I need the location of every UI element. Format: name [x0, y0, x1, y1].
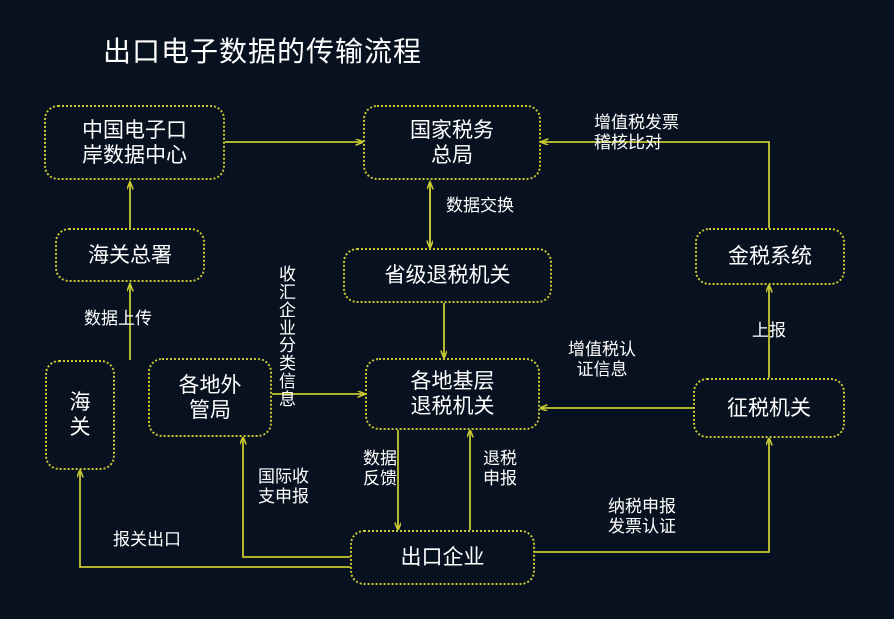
node-general-administration-of-customs[interactable]: 海关总署	[55, 228, 205, 282]
node-export-enterprise[interactable]: 出口企业	[350, 530, 535, 585]
edge-label-tax-declaration-invoice-certification: 纳税申报 发票认证	[608, 497, 676, 538]
node-tax-collection-authority[interactable]: 征税机关	[693, 378, 845, 438]
edge-label-report-up: 上报	[752, 321, 786, 341]
node-local-forex-bureau[interactable]: 各地外 管局	[148, 358, 272, 437]
connector-exporter-to-customs	[80, 470, 350, 567]
connector-goldentax-to-sat	[541, 142, 769, 228]
edge-label-data-feedback: 数据 反馈	[363, 449, 397, 490]
edge-label-customs-export-declaration: 报关出口	[113, 530, 181, 550]
edge-label-data-exchange: 数据交换	[446, 196, 514, 216]
flowchart-canvas: 出口电子数据的传输流程	[0, 0, 894, 619]
node-customs[interactable]: 海 关	[45, 360, 115, 470]
edge-label-vat-certification-info: 增值税认 证信息	[568, 340, 636, 381]
edge-label-refund-declaration: 退税 申报	[483, 449, 517, 490]
node-golden-tax-system[interactable]: 金税系统	[695, 228, 845, 285]
edge-label-forex-classification-info: 收汇 企业 分类 信息	[279, 267, 301, 410]
node-china-eport-data-center[interactable]: 中国电子口 岸数据中心	[44, 105, 225, 180]
node-state-administration-of-taxation[interactable]: 国家税务 总局	[363, 105, 541, 180]
page-title: 出口电子数据的传输流程	[103, 30, 422, 70]
node-provincial-refund-authority[interactable]: 省级退税机关	[343, 248, 552, 303]
node-local-grassroots-refund-authority[interactable]: 各地基层 退税机关	[365, 358, 540, 430]
edge-label-international-bop-declaration: 国际收 支申报	[258, 467, 309, 508]
edge-label-vat-invoice-audit: 增值税发票 稽核比对	[594, 113, 679, 154]
edge-label-data-upload: 数据上传	[84, 309, 152, 329]
